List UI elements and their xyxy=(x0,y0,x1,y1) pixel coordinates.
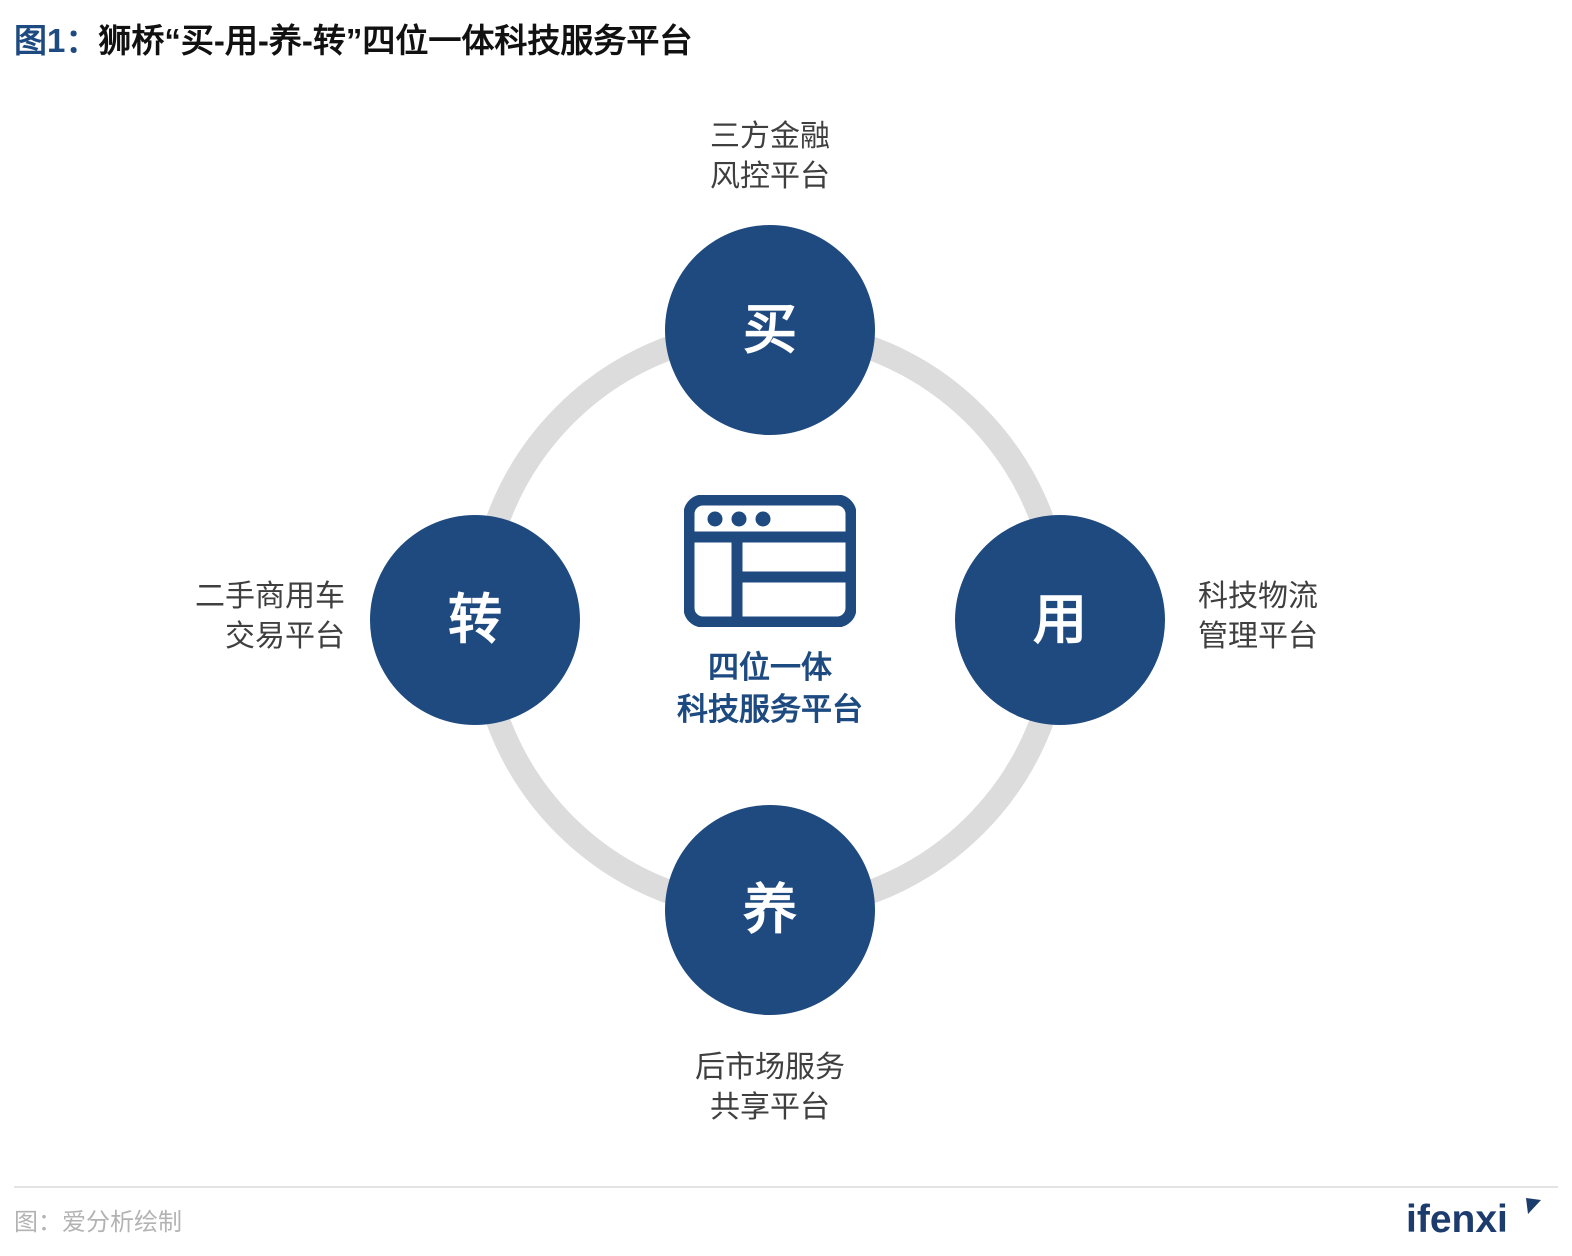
diagram-canvas: 三方金融 风控平台 后市场服务 共享平台 二手商用车 交易平台 科技物流 管理平… xyxy=(0,70,1572,1170)
caption-buy-line1: 三方金融 xyxy=(570,117,970,157)
node-trade-label: 转 xyxy=(448,593,502,647)
footer-divider xyxy=(14,1186,1558,1188)
caption-use-line2: 管理平台 xyxy=(1198,617,1538,657)
node-use-label: 用 xyxy=(1033,593,1087,647)
node-buy-label: 买 xyxy=(743,303,797,357)
center-hub-label: 四位一体 科技服务平台 xyxy=(677,647,863,731)
node-use[interactable]: 用 xyxy=(955,515,1165,725)
caption-trade-line2: 交易平台 xyxy=(40,617,345,657)
center-hub-line2: 科技服务平台 xyxy=(677,689,863,731)
node-maintain[interactable]: 养 xyxy=(665,805,875,1015)
figure-title-bar: 图1： 狮桥“买-用-养-转”四位一体科技服务平台 xyxy=(14,12,1554,64)
figure-number: 图1： xyxy=(14,14,98,62)
node-buy[interactable]: 买 xyxy=(665,225,875,435)
caption-maintain: 后市场服务 共享平台 xyxy=(570,1048,970,1128)
source-note: 图：爱分析绘制 xyxy=(14,1202,182,1237)
ifenxi-logo: ifenxi xyxy=(1400,1196,1550,1242)
ifenxi-logo-text: ifenxi xyxy=(1406,1198,1508,1241)
center-hub: 四位一体 科技服务平台 xyxy=(610,495,930,765)
caption-use: 科技物流 管理平台 xyxy=(1198,577,1538,657)
ifenxi-logo-flag-icon xyxy=(1526,1198,1541,1214)
node-maintain-label: 养 xyxy=(743,883,797,937)
node-trade[interactable]: 转 xyxy=(370,515,580,725)
caption-use-line1: 科技物流 xyxy=(1198,577,1538,617)
page-title: 狮桥“买-用-养-转”四位一体科技服务平台 xyxy=(98,14,692,62)
caption-trade-line1: 二手商用车 xyxy=(40,577,345,617)
caption-maintain-line1: 后市场服务 xyxy=(570,1048,970,1088)
caption-maintain-line2: 共享平台 xyxy=(570,1088,970,1128)
center-hub-line1: 四位一体 xyxy=(677,647,863,689)
caption-buy-line2: 风控平台 xyxy=(570,157,970,197)
caption-buy: 三方金融 风控平台 xyxy=(570,117,970,197)
caption-trade: 二手商用车 交易平台 xyxy=(40,577,345,657)
browser-dashboard-icon xyxy=(684,495,856,627)
